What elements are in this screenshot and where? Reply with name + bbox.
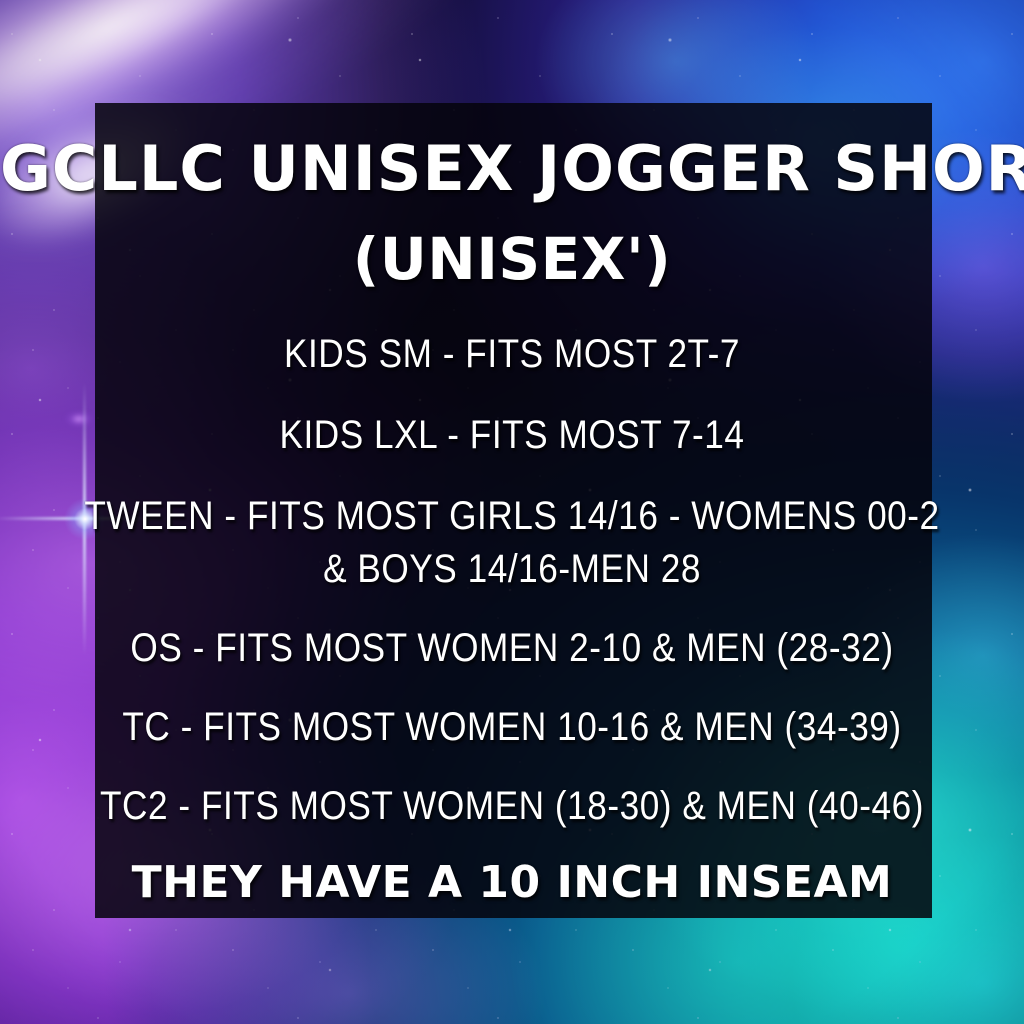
size-row-tc2: TC2 - FITS MOST WOMEN (18-30) & MEN (40-… [61, 784, 962, 829]
sizing-chart-text: GCLLC UNISEX JOGGER SHORTS (UNISEX') KID… [0, 0, 1024, 1024]
page-title: GCLLC UNISEX JOGGER SHORTS [0, 138, 1024, 200]
size-row-tc: TC - FITS MOST WOMEN 10-16 & MEN (34-39) [61, 705, 962, 750]
size-row-kids-lxl: KIDS LXL - FITS MOST 7-14 [61, 413, 962, 458]
sizing-chart-graphic: GCLLC UNISEX JOGGER SHORTS (UNISEX') KID… [0, 0, 1024, 1024]
size-row-kids-sm: KIDS SM - FITS MOST 2T-7 [61, 332, 962, 377]
size-row-tween-continued: & BOYS 14/16-MEN 28 [61, 547, 962, 592]
inseam-note: THEY HAVE A 10 INCH INSEAM [0, 857, 1024, 908]
page-subtitle: (UNISEX') [0, 230, 1024, 288]
size-row-tween: TWEEN - FITS MOST GIRLS 14/16 - WOMENS 0… [61, 494, 962, 539]
size-row-os: OS - FITS MOST WOMEN 2-10 & MEN (28-32) [61, 626, 962, 671]
